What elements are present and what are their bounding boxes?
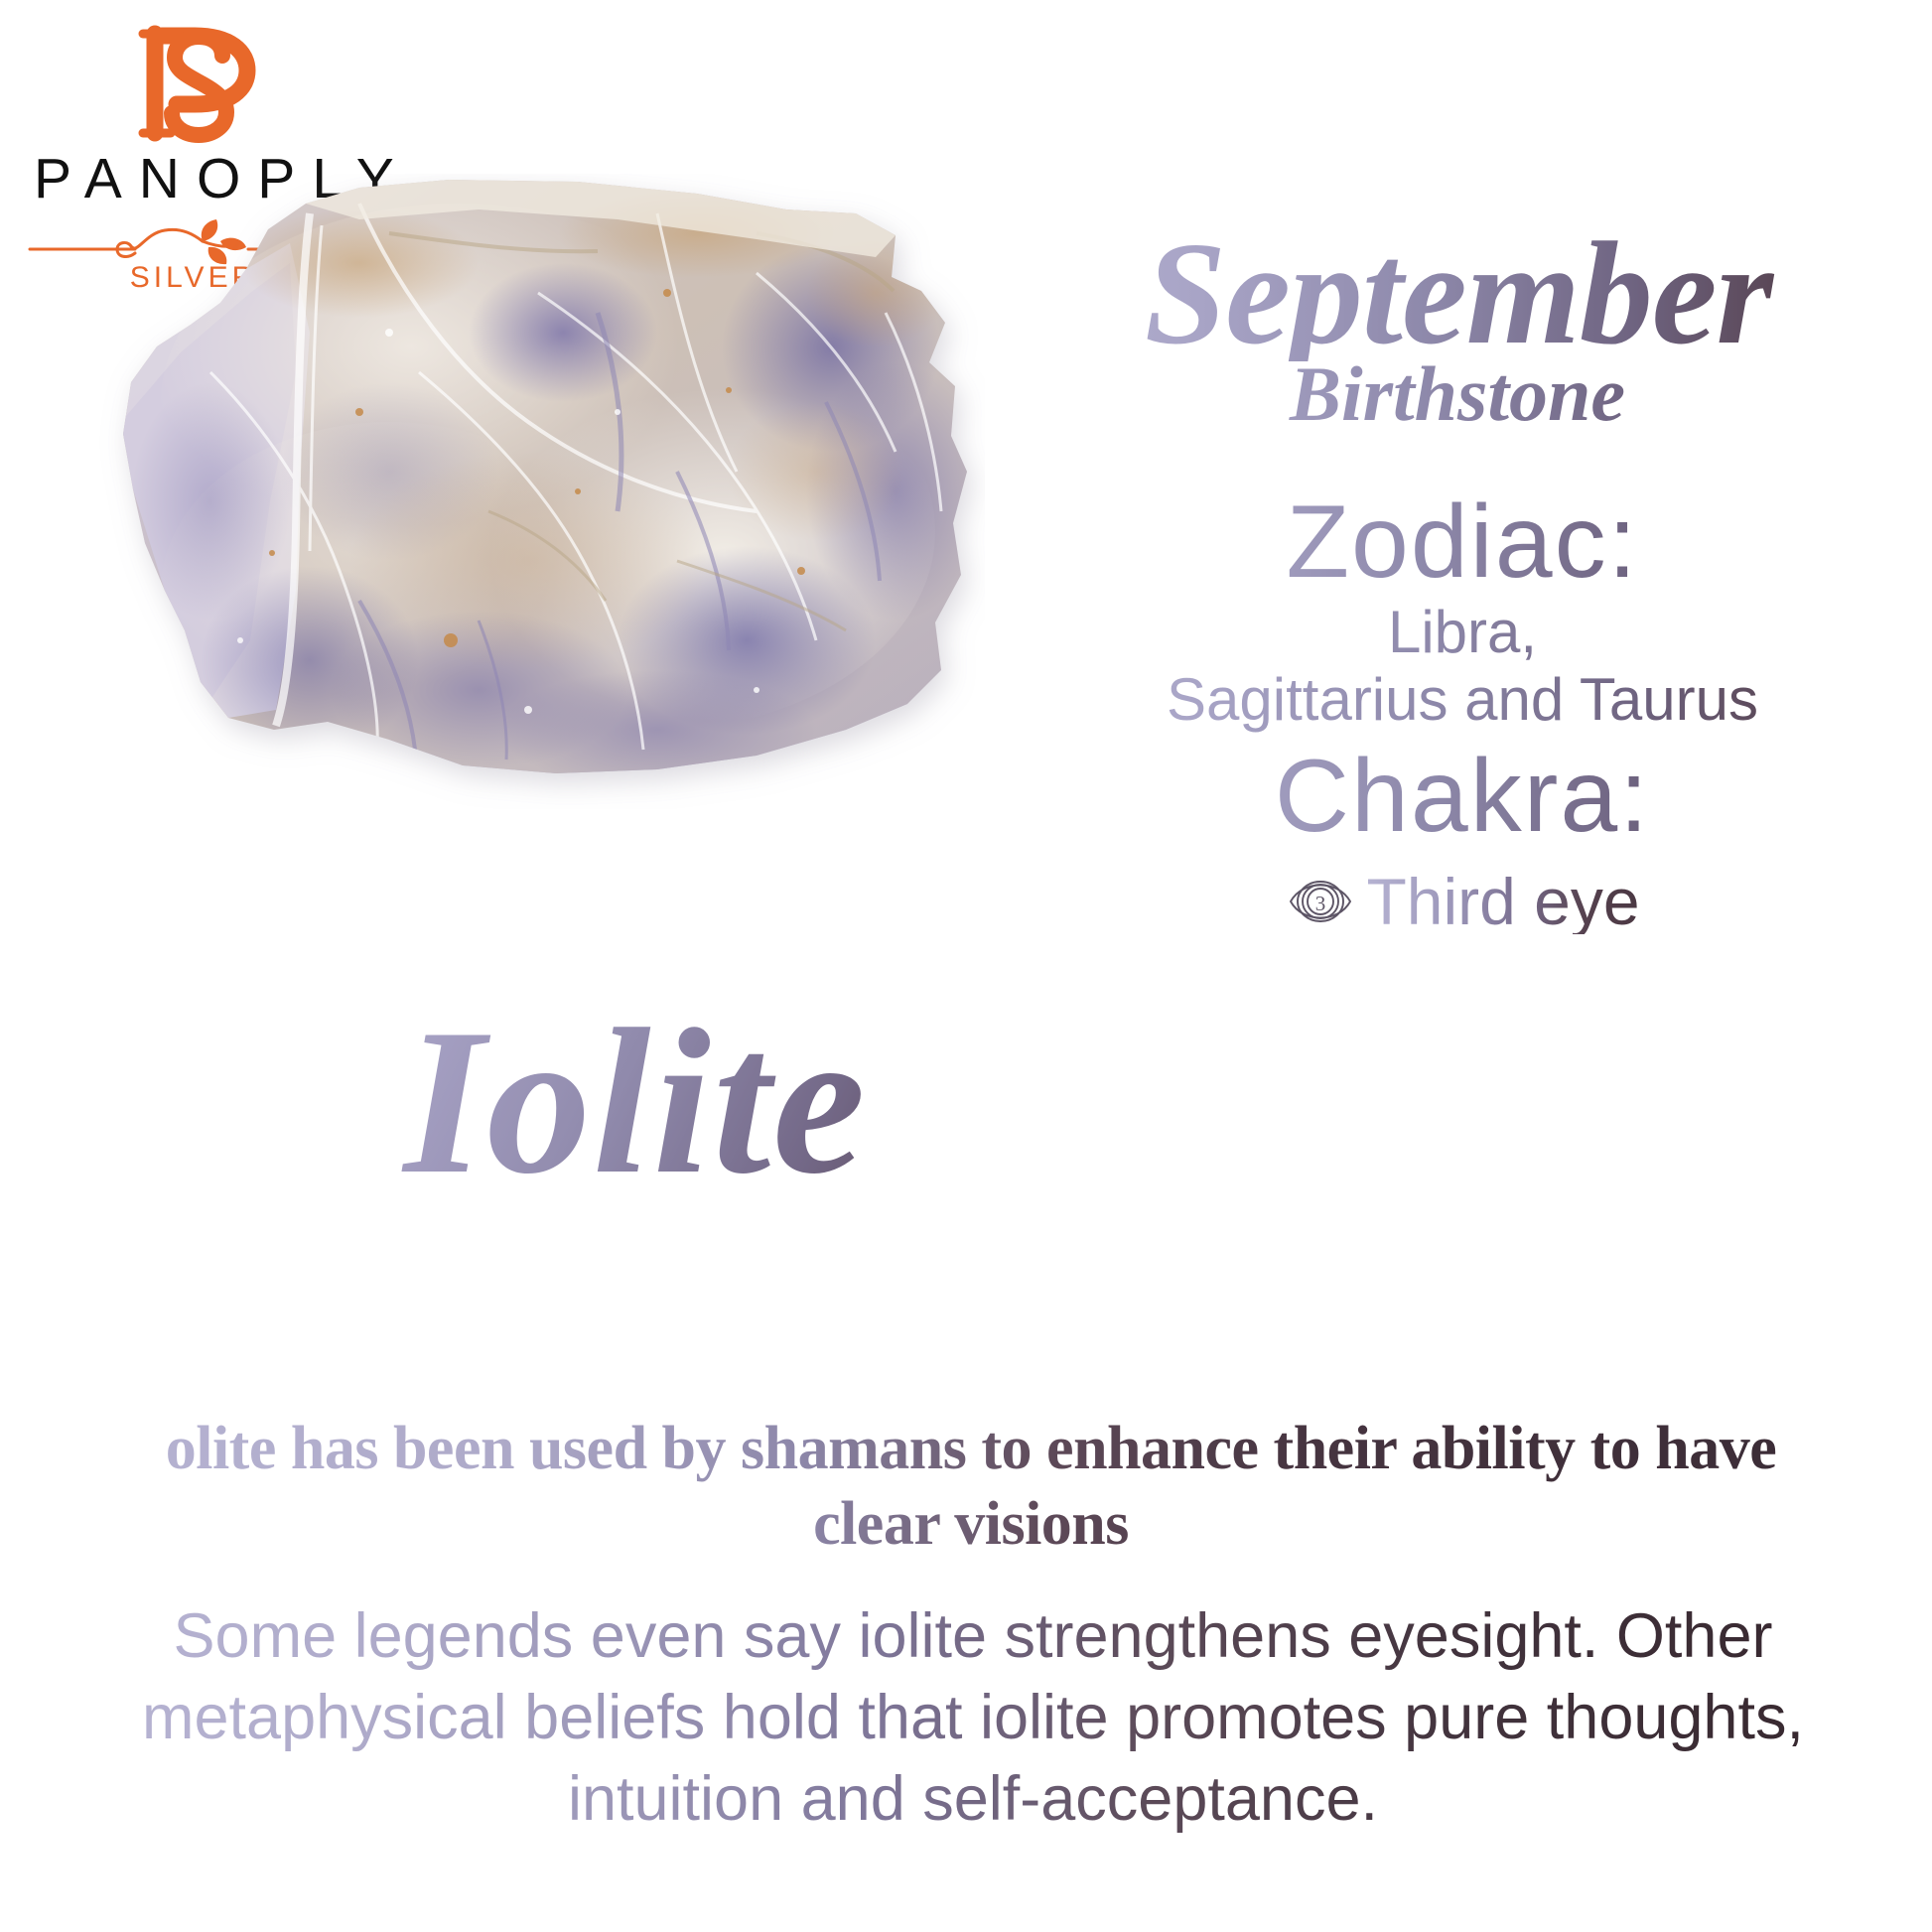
- zodiac-label: Zodiac:: [993, 488, 1932, 597]
- third-eye-chakra-icon: 3: [1285, 866, 1356, 937]
- birthstone-subheading: Birthstone: [993, 355, 1932, 433]
- ps-monogram-icon: [18, 16, 365, 145]
- tagline-text: olite has been used by shamans to enhanc…: [127, 1412, 1815, 1562]
- chakra-label: Chakra:: [993, 741, 1932, 852]
- chakra-value-row: 3 Third eye: [993, 866, 1932, 937]
- gemstone-name: Iolite: [139, 998, 1132, 1206]
- zodiac-value-line-1: Libra,: [993, 599, 1932, 665]
- chakra-value: Third eye: [1366, 869, 1639, 934]
- iolite-gemstone-image: [62, 174, 985, 809]
- zodiac-value-line-2: Sagittarius and Taurus: [993, 666, 1932, 733]
- rough-iolite-crystal: [62, 174, 985, 809]
- description-text: Some legends even say iolite strengthens…: [109, 1596, 1837, 1841]
- birthstone-info-panel: September Birthstone Zodiac: Libra, Sagi…: [993, 226, 1932, 937]
- month-heading: September: [993, 226, 1932, 361]
- chakra-number: 3: [1315, 892, 1326, 915]
